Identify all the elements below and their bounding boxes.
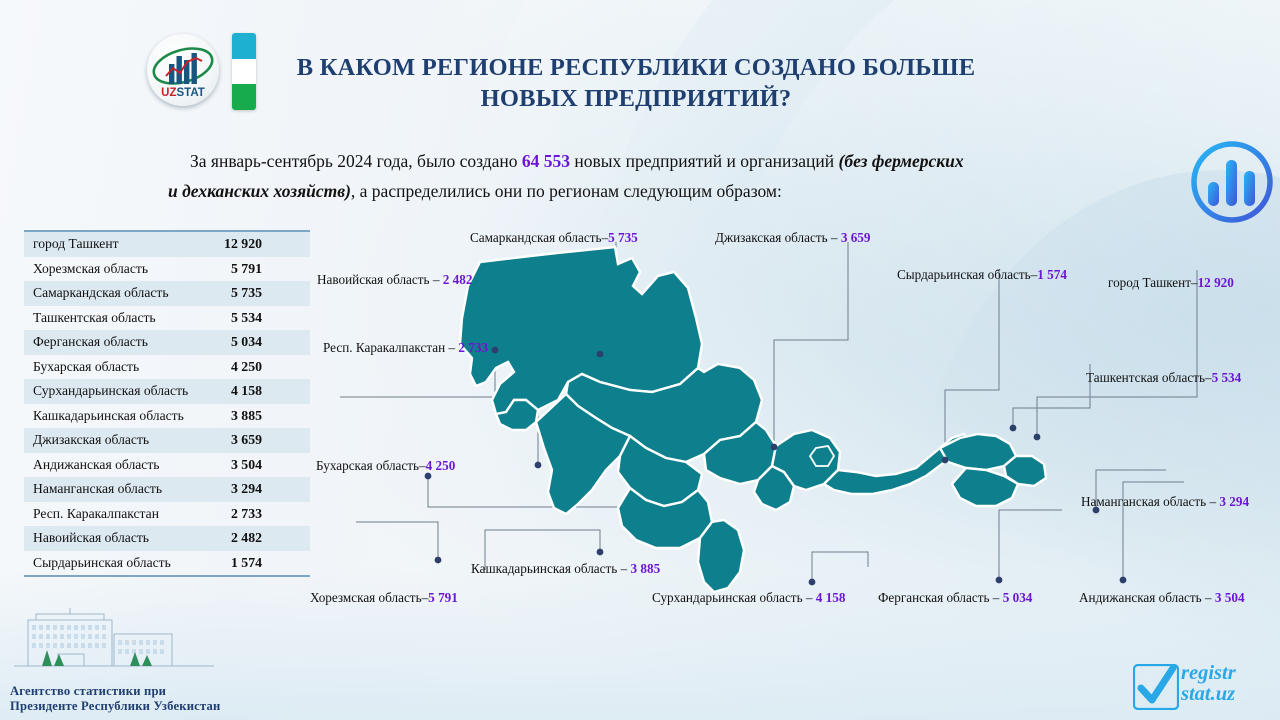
agency-building-icon xyxy=(14,608,214,680)
region-value: 3 504 xyxy=(210,457,300,473)
infographic-page: UZSTAT В КАКОМ РЕГИОНЕ РЕСПУБЛИКИ СОЗДАН… xyxy=(0,0,1280,720)
subtitle-part1: За январь-сентябрь 2024 года, было созда… xyxy=(190,151,522,171)
table-row[interactable]: Ферганская область5 034 xyxy=(24,330,310,355)
site-line2: stat.uz xyxy=(1181,684,1236,705)
checkmark-icon xyxy=(1133,664,1179,710)
region-value: 3 885 xyxy=(210,408,300,424)
callout-samarkand: Самаркандская область–5 735 xyxy=(470,230,638,246)
table-row[interactable]: Джизакская область3 659 xyxy=(24,428,310,453)
table-row[interactable]: Ташкентская область5 534 xyxy=(24,306,310,331)
callout-fergana: Ферганская область – 5 034 xyxy=(878,590,1032,606)
agency-caption: Агентство статистики при Президенте Респ… xyxy=(10,684,220,714)
region-name: Ташкентская область xyxy=(33,310,210,326)
callout-tashkent-city: город Ташкент–12 920 xyxy=(1108,275,1234,291)
total-value: 64 553 xyxy=(522,151,570,171)
table-row[interactable]: Сурхандарьинская область4 158 xyxy=(24,379,310,404)
callout-kashkadarya: Кашкадарьинская область – 3 885 xyxy=(471,561,660,577)
region-value: 3 294 xyxy=(210,481,300,497)
regions-table: город Ташкент12 920 Хорезмская область5 … xyxy=(24,230,310,577)
table-row[interactable]: Навоийская область2 482 xyxy=(24,526,310,551)
region-name: Андижанская область xyxy=(33,457,210,473)
region-value: 3 659 xyxy=(210,432,300,448)
callout-karakalpakstan: Респ. Каракалпакстан – 2 733 xyxy=(323,340,488,356)
subtitle-italic2: и дехканских хозяйств) xyxy=(168,181,351,201)
region-name: Навоийская область xyxy=(33,530,210,546)
region-name: Сурхандарьинская область xyxy=(33,383,210,399)
region-name: Кашкадарьинская область xyxy=(33,408,210,424)
region-name: Джизакская область xyxy=(33,432,210,448)
region-value: 4 250 xyxy=(210,359,300,375)
table-row[interactable]: Бухарская область4 250 xyxy=(24,355,310,380)
map-regions xyxy=(460,247,1046,592)
table-row[interactable]: Респ. Каракалпакстан2 733 xyxy=(24,502,310,527)
page-title: В КАКОМ РЕГИОНЕ РЕСПУБЛИКИ СОЗДАНО БОЛЬШ… xyxy=(266,52,1006,114)
table-row[interactable]: Наманганская область3 294 xyxy=(24,477,310,502)
region-name: Сырдарьинская область xyxy=(33,555,210,571)
callout-jizzakh: Джизакская область – 3 659 xyxy=(715,230,870,246)
registrstat-logo[interactable]: registr stat.uz xyxy=(1133,664,1280,714)
uzstat-logo: UZSTAT xyxy=(147,34,219,106)
page-title-line2: НОВЫХ ПРЕДПРИЯТИЙ? xyxy=(266,83,1006,114)
subtitle-paragraph: За январь-сентябрь 2024 года, было созда… xyxy=(168,146,1148,206)
table-row[interactable]: город Ташкент12 920 xyxy=(24,232,310,257)
region-value: 5 791 xyxy=(210,261,300,277)
table-row[interactable]: Андижанская область3 504 xyxy=(24,453,310,478)
agency-line1: Агентство статистики при xyxy=(10,684,220,699)
subtitle-italic1: (без фермерских xyxy=(839,151,964,171)
table-row[interactable]: Хорезмская область5 791 xyxy=(24,257,310,282)
callout-sirdaryo: Сырдарьинская область–1 574 xyxy=(897,267,1067,283)
callout-surkhandarya: Сурхандарьинская область – 4 158 xyxy=(652,590,845,606)
region-eastern-corridor[interactable] xyxy=(824,434,968,494)
callout-andijan: Андижанская область – 3 504 xyxy=(1079,590,1245,606)
region-value: 2 733 xyxy=(210,506,300,522)
region-value: 12 920 xyxy=(210,236,300,252)
table-row[interactable]: Самаркандская область5 735 xyxy=(24,281,310,306)
region-name: Наманганская область xyxy=(33,481,210,497)
region-value: 5 735 xyxy=(210,285,300,301)
statistics-ring-logo xyxy=(1188,138,1276,226)
region-value: 5 534 xyxy=(210,310,300,326)
page-title-line1: В КАКОМ РЕГИОНЕ РЕСПУБЛИКИ СОЗДАНО БОЛЬШ… xyxy=(266,52,1006,83)
region-value: 5 034 xyxy=(210,334,300,350)
region-name: Ферганская область xyxy=(33,334,210,350)
callout-namangan: Наманганская область – 3 294 xyxy=(1081,494,1249,510)
region-name: Самаркандская область xyxy=(33,285,210,301)
site-line1: registr xyxy=(1181,663,1236,684)
callout-bukhara: Бухарская область–4 250 xyxy=(316,458,455,474)
callout-khorezm: Хорезмская область–5 791 xyxy=(310,590,458,606)
callout-tashkent-region: Ташкентская область–5 534 xyxy=(1086,370,1241,386)
region-name: город Ташкент xyxy=(33,236,210,252)
uzbekistan-flag-icon xyxy=(232,33,256,110)
region-name: Хорезмская область xyxy=(33,261,210,277)
region-name: Бухарская область xyxy=(33,359,210,375)
subtitle-part3: , а распределились они по регионам следу… xyxy=(351,181,782,201)
region-value: 1 574 xyxy=(210,555,300,571)
table-row[interactable]: Сырдарьинская область1 574 xyxy=(24,551,310,576)
subtitle-part2: новых предприятий и организаций xyxy=(570,151,839,171)
uzbekistan-map-area: Самаркандская область–5 735 Джизакская о… xyxy=(300,222,1280,612)
region-name: Респ. Каракалпакстан xyxy=(33,506,210,522)
agency-line2: Президенте Республики Узбекистан xyxy=(10,699,220,714)
svg-text:UZSTAT: UZSTAT xyxy=(161,87,205,99)
region-value: 2 482 xyxy=(210,530,300,546)
region-value: 4 158 xyxy=(210,383,300,399)
region-surkhandarya[interactable] xyxy=(698,520,744,592)
table-row[interactable]: Кашкадарьинская область3 885 xyxy=(24,404,310,429)
callout-navoiy: Навоийская область – 2 482 xyxy=(317,272,472,288)
